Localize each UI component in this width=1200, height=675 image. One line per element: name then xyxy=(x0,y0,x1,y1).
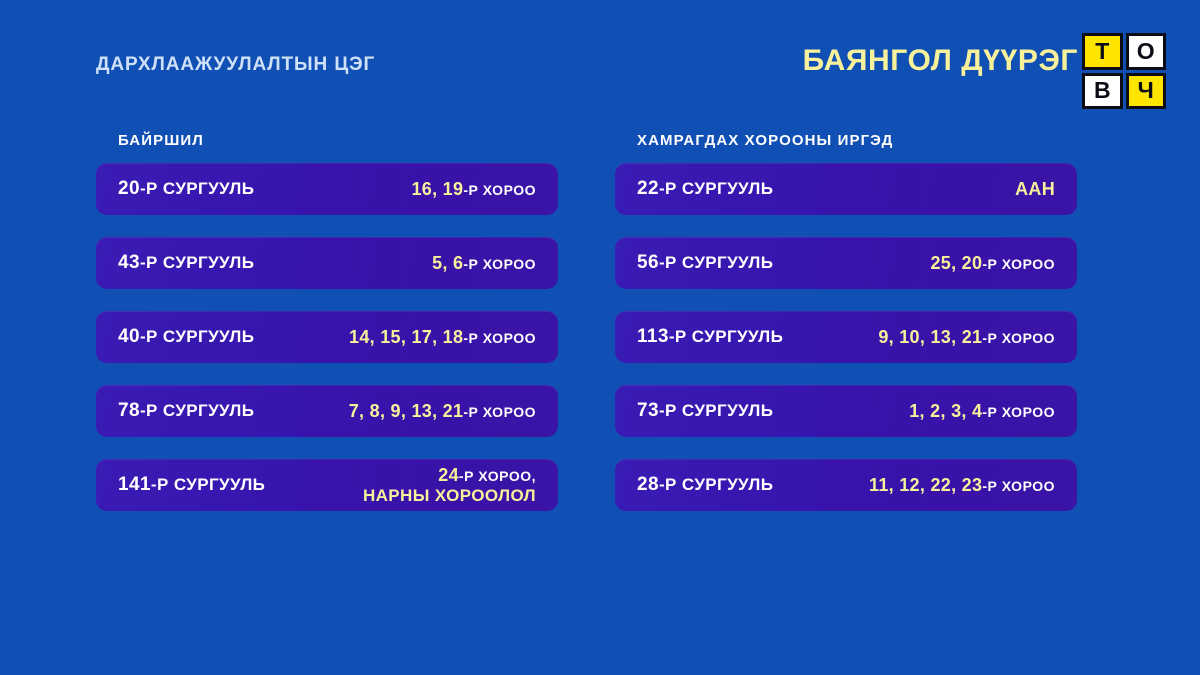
table-row: 78-р сургууль7, 8, 9, 13, 21-р хороо xyxy=(96,385,558,437)
row-khoroo-line-2: НАРНЫ ХОРООЛОЛ xyxy=(363,486,536,505)
row-location-suffix: -р сургууль xyxy=(140,401,254,420)
row-location-number: 43 xyxy=(118,252,140,273)
row-location-number: 40 xyxy=(118,326,140,347)
row-location-suffix: -р сургууль xyxy=(140,253,254,272)
row-khoroo-numbers: 24 xyxy=(438,465,459,485)
column-header-location: БАЙРШИЛ xyxy=(118,132,558,149)
row-khoroo-unit: -р хороо xyxy=(982,404,1055,420)
table-row: 22-р сургуульААН xyxy=(615,163,1077,215)
row-khoroo-numbers: 16, 19 xyxy=(411,179,463,199)
row-khoroo-unit: -р хороо xyxy=(982,478,1055,494)
row-location-label: 40-р сургууль xyxy=(118,326,254,348)
row-location-number: 113 xyxy=(637,326,669,347)
table-row: 141-р сургууль24-р хороо,НАРНЫ ХОРООЛОЛ xyxy=(96,459,558,511)
row-location-label: 78-р сургууль xyxy=(118,400,254,422)
row-location-suffix: -р сургууль xyxy=(669,327,783,346)
row-khoroo-line-1: 16, 19-р хороо xyxy=(411,179,536,200)
row-khoroo-numbers: ААН xyxy=(1015,179,1055,199)
row-khoroo-unit: -р хороо xyxy=(982,256,1055,272)
row-khoroo-unit: -р хороо xyxy=(463,404,536,420)
row-khoroo-numbers: 1, 2, 3, 4 xyxy=(909,401,982,421)
row-khoroo-unit: -р хороо, xyxy=(459,468,536,484)
table-row: 40-р сургууль14, 15, 17, 18-р хороо xyxy=(96,311,558,363)
page-title: БАЯНГОЛ ДҮҮРЭГ xyxy=(803,44,1078,78)
row-khoroo-line-1: 14, 15, 17, 18-р хороо xyxy=(349,327,536,348)
row-location-label: 22-р сургууль xyxy=(637,178,773,200)
row-khoroo-line-1: 9, 10, 13, 21-р хороо xyxy=(878,327,1055,348)
row-khoroo-numbers: 5, 6 xyxy=(432,253,463,273)
row-khoroo-numbers: 11, 12, 22, 23 xyxy=(869,475,982,495)
row-location-label: 20-р сургууль xyxy=(118,178,254,200)
row-location-number: 78 xyxy=(118,400,140,421)
row-location-suffix: -р сургууль xyxy=(140,179,254,198)
row-khoroo-line-1: ААН xyxy=(1015,179,1055,200)
row-location-suffix: -р сургууль xyxy=(659,401,773,420)
row-khoroo-unit: -р хороо xyxy=(463,330,536,346)
row-location-label: 73-р сургууль xyxy=(637,400,773,422)
row-khoroo-unit: -р хороо xyxy=(463,182,536,198)
row-location-suffix: -р сургууль xyxy=(659,253,773,272)
row-khoroo-line-1: 7, 8, 9, 13, 21-р хороо xyxy=(349,401,536,422)
row-location-number: 73 xyxy=(637,400,659,421)
row-khoroo-value: 24-р хороо,НАРНЫ ХОРООЛОЛ xyxy=(363,465,536,505)
column-header-khoroo: ХАМРАГДАХ ХОРООНЫ ИРГЭД xyxy=(637,132,1077,149)
logo-cell-ч: Ч xyxy=(1126,73,1167,110)
table-row: 56-р сургууль25, 20-р хороо xyxy=(615,237,1077,289)
row-khoroo-line-1: 5, 6-р хороо xyxy=(432,253,536,274)
row-khoroo-numbers: 25, 20 xyxy=(930,253,982,273)
row-khoroo-unit: -р хороо xyxy=(982,330,1055,346)
table-row: 113-р сургууль9, 10, 13, 21-р хороо xyxy=(615,311,1077,363)
page-subtitle: ДАРХЛААЖУУЛАЛТЫН ЦЭГ xyxy=(96,54,375,76)
row-location-number: 20 xyxy=(118,178,140,199)
row-khoroo-numbers: 7, 8, 9, 13, 21 xyxy=(349,401,464,421)
logo-cell-в: В xyxy=(1082,73,1123,110)
table-row: 28-р сургууль11, 12, 22, 23-р хороо xyxy=(615,459,1077,511)
row-khoroo-line-1: 11, 12, 22, 23-р хороо xyxy=(869,475,1055,496)
row-khoroo-line-1: 25, 20-р хороо xyxy=(930,253,1055,274)
row-list-right: 22-р сургуульААН56-р сургууль25, 20-р хо… xyxy=(615,163,1077,511)
slide-root: ДАРХЛААЖУУЛАЛТЫН ЦЭГ БАЯНГОЛ ДҮҮРЭГ ТОВЧ… xyxy=(0,0,1200,675)
row-location-number: 56 xyxy=(637,252,659,273)
table-row: 20-р сургууль16, 19-р хороо xyxy=(96,163,558,215)
row-list-left: 20-р сургууль16, 19-р хороо43-р сургууль… xyxy=(96,163,558,511)
row-khoroo-value: 9, 10, 13, 21-р хороо xyxy=(878,327,1055,348)
logo-cell-о: О xyxy=(1126,33,1167,70)
column-location: БАЙРШИЛ 20-р сургууль16, 19-р хороо43-р … xyxy=(96,132,558,511)
row-khoroo-value: 25, 20-р хороо xyxy=(930,253,1055,274)
row-location-suffix: -р сургууль xyxy=(151,475,265,494)
row-location-label: 56-р сургууль xyxy=(637,252,773,274)
row-location-number: 22 xyxy=(637,178,659,199)
row-location-label: 43-р сургууль xyxy=(118,252,254,274)
row-khoroo-numbers: 9, 10, 13, 21 xyxy=(878,327,982,347)
row-khoroo-value: 14, 15, 17, 18-р хороо xyxy=(349,327,536,348)
table-row: 73-р сургууль1, 2, 3, 4-р хороо xyxy=(615,385,1077,437)
row-location-number: 28 xyxy=(637,474,659,495)
row-khoroo-numbers: 14, 15, 17, 18 xyxy=(349,327,463,347)
table-row: 43-р сургууль5, 6-р хороо xyxy=(96,237,558,289)
logo-cell-т: Т xyxy=(1082,33,1123,70)
row-khoroo-value: 5, 6-р хороо xyxy=(432,253,536,274)
row-location-label: 113-р сургууль xyxy=(637,326,783,348)
row-khoroo-value: 11, 12, 22, 23-р хороо xyxy=(869,475,1055,496)
row-location-label: 141-р сургууль xyxy=(118,474,265,496)
tovch-logo: ТОВЧ xyxy=(1082,33,1166,109)
row-location-suffix: -р сургууль xyxy=(659,179,773,198)
row-khoroo-value: 16, 19-р хороо xyxy=(411,179,536,200)
row-khoroo-line-1: 24-р хороо, xyxy=(363,465,536,486)
row-location-suffix: -р сургууль xyxy=(659,475,773,494)
row-location-number: 141 xyxy=(118,474,151,495)
row-khoroo-line-1: 1, 2, 3, 4-р хороо xyxy=(909,401,1055,422)
column-khoroo: ХАМРАГДАХ ХОРООНЫ ИРГЭД 22-р сургуульААН… xyxy=(615,132,1077,511)
row-location-label: 28-р сургууль xyxy=(637,474,773,496)
row-location-suffix: -р сургууль xyxy=(140,327,254,346)
row-khoroo-unit: -р хороо xyxy=(463,256,536,272)
row-khoroo-value: 1, 2, 3, 4-р хороо xyxy=(909,401,1055,422)
row-khoroo-value: 7, 8, 9, 13, 21-р хороо xyxy=(349,401,536,422)
row-khoroo-value: ААН xyxy=(1015,179,1055,200)
